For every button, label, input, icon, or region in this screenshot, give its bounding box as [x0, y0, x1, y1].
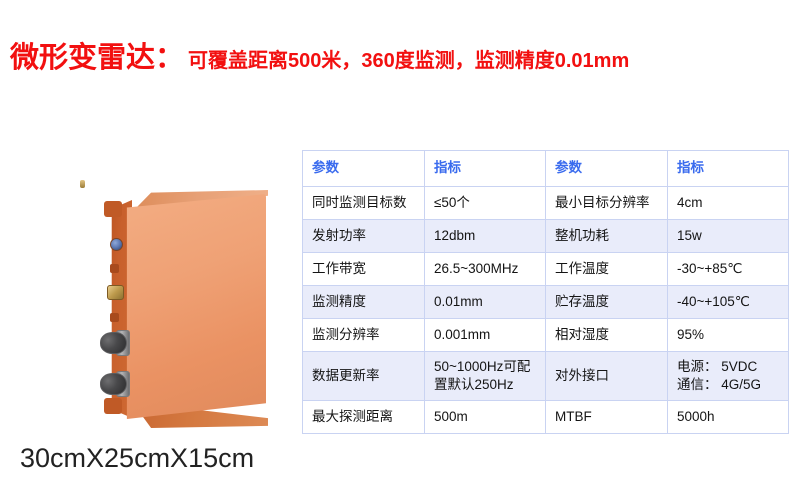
device-corner-lip-top: [104, 201, 122, 217]
spec-value-cell-5-1: 50~1000Hz可配置默认250Hz: [425, 352, 546, 401]
spec-table-header-cell-1: 指标: [425, 151, 546, 187]
cell-text-line: 置默认250Hz: [434, 376, 536, 394]
specifications-table: 参数指标参数指标同时监测目标数≤50个最小目标分辨率4cm发射功率12dbm整机…: [302, 150, 789, 434]
spec-value-cell-1-1: 12dbm: [425, 220, 546, 253]
device-dimensions-caption: 30cmX25cmX15cm: [20, 443, 254, 474]
spec-table-row: 数据更新率50~1000Hz可配置默认250Hz对外接口电源： 5VDC通信： …: [303, 352, 789, 401]
spec-param-cell-6-2: MTBF: [546, 401, 668, 434]
spec-value-cell-3-1: 0.01mm: [425, 286, 546, 319]
cell-text-line: 50~1000Hz可配: [434, 358, 536, 376]
cell-text-line: 4cm: [677, 194, 779, 212]
spec-param-cell-4-2: 相对湿度: [546, 319, 668, 352]
spec-value-cell-2-1: 26.5~300MHz: [425, 253, 546, 286]
spec-value-cell-0-3: 4cm: [668, 187, 789, 220]
spec-value-cell-5-3: 电源： 5VDC通信： 4G/5G: [668, 352, 789, 401]
large-circular-connector-2-icon: [100, 373, 127, 395]
cell-text-line: 整机功耗: [555, 227, 658, 245]
cell-text-line: 贮存温度: [555, 293, 658, 311]
cell-text-line: 对外接口: [555, 367, 658, 385]
spec-table-header-cell-2: 参数: [546, 151, 668, 187]
cell-text-line: 工作带宽: [312, 260, 415, 278]
spec-value-cell-1-3: 15w: [668, 220, 789, 253]
spec-param-cell-2-0: 工作带宽: [303, 253, 425, 286]
cell-text-line: 12dbm: [434, 227, 536, 245]
device-side-tab-lower: [110, 313, 119, 322]
spec-table-row: 监测精度0.01mm贮存温度-40~+105℃: [303, 286, 789, 319]
page-title: 微形变雷达：: [10, 44, 184, 73]
cell-text-line: 95%: [677, 326, 779, 344]
large-circular-connector-1-icon: [100, 332, 127, 354]
spec-value-cell-3-3: -40~+105℃: [668, 286, 789, 319]
spec-table-header-cell-3: 指标: [668, 151, 789, 187]
page-heading: 微形变雷达： 可覆盖距离500米，360度监测，监测精度0.01mm: [10, 44, 629, 73]
cell-text-line: 同时监测目标数: [312, 194, 415, 212]
cell-text-line: 相对湿度: [555, 326, 658, 344]
spec-table-row: 发射功率12dbm整机功耗15w: [303, 220, 789, 253]
cell-text-line: 15w: [677, 227, 779, 245]
spec-param-cell-4-0: 监测分辨率: [303, 319, 425, 352]
cell-text-line: 0.001mm: [434, 326, 536, 344]
cell-text-line: -40~+105℃: [677, 293, 779, 311]
spec-param-cell-0-0: 同时监测目标数: [303, 187, 425, 220]
cell-text-line: 监测分辨率: [312, 326, 415, 344]
cell-text-line: 500m: [434, 408, 536, 426]
spec-param-cell-1-0: 发射功率: [303, 220, 425, 253]
spec-value-cell-6-1: 500m: [425, 401, 546, 434]
spec-value-cell-4-1: 0.001mm: [425, 319, 546, 352]
spec-value-cell-2-3: -30~+85℃: [668, 253, 789, 286]
spec-table-row: 最大探测距离500mMTBF5000h: [303, 401, 789, 434]
spec-table-header-row: 参数指标参数指标: [303, 151, 789, 187]
radar-device-illustration: [80, 180, 305, 440]
cell-text-line: 通信： 4G/5G: [677, 376, 779, 394]
spec-param-cell-1-2: 整机功耗: [546, 220, 668, 253]
cell-text-line: ≤50个: [434, 194, 536, 212]
spec-table-header-cell-0: 参数: [303, 151, 425, 187]
device-corner-lip-bottom: [104, 398, 122, 414]
spec-param-cell-3-2: 贮存温度: [546, 286, 668, 319]
spec-table-row: 监测分辨率0.001mm相对湿度95%: [303, 319, 789, 352]
spec-table-row: 同时监测目标数≤50个最小目标分辨率4cm: [303, 187, 789, 220]
spec-param-cell-5-0: 数据更新率: [303, 352, 425, 401]
cell-text-line: 发射功率: [312, 227, 415, 245]
small-blue-connector-icon: [110, 238, 123, 251]
brass-connector-pin-icon: [80, 180, 85, 188]
cell-text-line: 5000h: [677, 408, 779, 426]
cell-text-line: 数据更新率: [312, 367, 415, 385]
device-front-face: [118, 194, 266, 419]
spec-value-cell-0-1: ≤50个: [425, 187, 546, 220]
page-subtitle: 可覆盖距离500米，360度监测，监测精度0.01mm: [188, 51, 629, 71]
spec-param-cell-6-0: 最大探测距离: [303, 401, 425, 434]
device-side-tab-upper: [110, 264, 119, 273]
cell-text-line: MTBF: [555, 408, 658, 426]
spec-param-cell-3-0: 监测精度: [303, 286, 425, 319]
spec-table-body: 参数指标参数指标同时监测目标数≤50个最小目标分辨率4cm发射功率12dbm整机…: [303, 151, 789, 434]
cell-text-line: 电源： 5VDC: [677, 358, 779, 376]
spec-value-cell-6-3: 5000h: [668, 401, 789, 434]
spec-table-row: 工作带宽26.5~300MHz工作温度-30~+85℃: [303, 253, 789, 286]
cell-text-line: 工作温度: [555, 260, 658, 278]
brass-connector-icon: [107, 285, 124, 300]
cell-text-line: 最小目标分辨率: [555, 194, 658, 212]
cell-text-line: 26.5~300MHz: [434, 260, 536, 278]
radar-device-image: [80, 180, 305, 440]
cell-text-line: 0.01mm: [434, 293, 536, 311]
cell-text-line: -30~+85℃: [677, 260, 779, 278]
cell-text-line: 监测精度: [312, 293, 415, 311]
spec-param-cell-5-2: 对外接口: [546, 352, 668, 401]
cell-text-line: 最大探测距离: [312, 408, 415, 426]
spec-param-cell-2-2: 工作温度: [546, 253, 668, 286]
spec-param-cell-0-2: 最小目标分辨率: [546, 187, 668, 220]
spec-value-cell-4-3: 95%: [668, 319, 789, 352]
spec-table-container: 参数指标参数指标同时监测目标数≤50个最小目标分辨率4cm发射功率12dbm整机…: [302, 150, 789, 434]
